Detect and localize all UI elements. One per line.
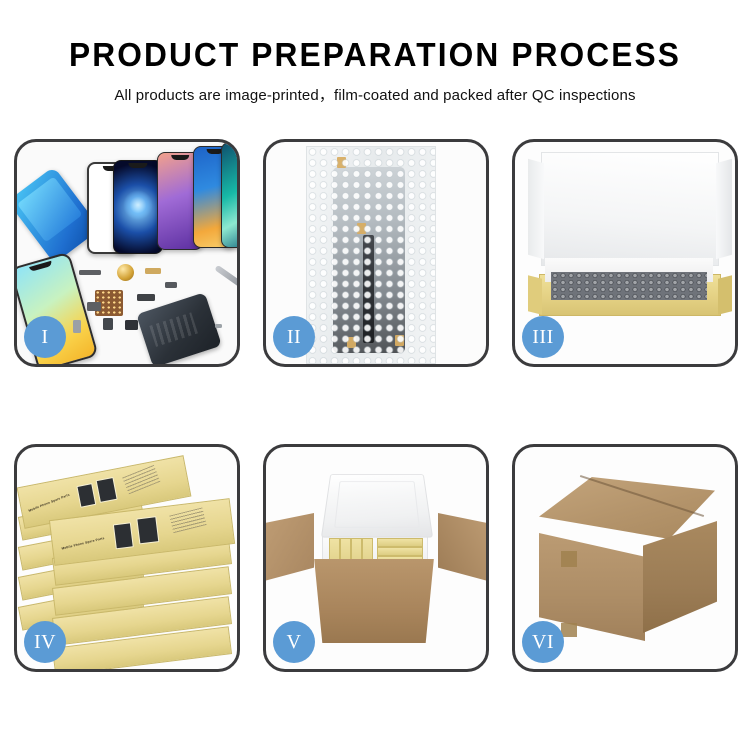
step-panel-1[interactable]: I — [14, 139, 240, 367]
carton-flap-right — [438, 513, 486, 583]
connector-icon — [137, 294, 155, 301]
step-panel-5[interactable]: V — [263, 444, 489, 672]
box-window-front-2 — [136, 516, 159, 544]
header: PRODUCT PREPARATION PROCESS All products… — [0, 0, 750, 105]
phone-back-housing-icon — [136, 292, 222, 364]
camera-module-icon — [125, 320, 138, 330]
phone-screen-teal-icon — [221, 142, 237, 248]
button-flex-icon — [165, 282, 177, 288]
step-panel-6[interactable]: VI — [512, 444, 738, 672]
small-chip-icon — [87, 302, 101, 311]
carton-tab-upper — [561, 551, 577, 567]
box-window-front-1 — [113, 522, 134, 549]
bubble-wrap-bag — [306, 146, 436, 364]
box-lid-foam — [541, 152, 719, 266]
yellow-box-h2 — [377, 547, 423, 556]
carton-side-face — [643, 521, 717, 633]
screw-icon — [215, 324, 222, 328]
step-badge-5: V — [273, 621, 315, 663]
box-label-front: Mobile Phone Spare Parts — [61, 536, 105, 551]
flex-cable-icon — [79, 270, 101, 275]
step-badge-1: I — [24, 316, 66, 358]
box-spec-text-front — [169, 507, 206, 533]
speaker-icon — [103, 318, 113, 330]
grey-bubble-wrap-layer — [551, 272, 707, 300]
process-step-grid: I II — [14, 139, 736, 672]
page-title: PRODUCT PREPARATION PROCESS — [15, 38, 735, 73]
step-panel-4[interactable]: Mobile Phone Spare Parts Mobile Phone Sp… — [14, 444, 240, 672]
step-badge-3: III — [522, 316, 564, 358]
step-panel-2[interactable]: II — [263, 139, 489, 367]
step-badge-4: IV — [24, 621, 66, 663]
box-window-back-1 — [76, 483, 96, 508]
carton-top-face — [539, 477, 715, 539]
box-window-back-2 — [96, 477, 118, 503]
carton-body — [306, 559, 442, 643]
step-badge-6: VI — [522, 621, 564, 663]
carton-tab-lower — [561, 623, 577, 637]
phone-screen-blue-icon — [113, 160, 163, 254]
step-badge-2: II — [273, 316, 315, 358]
product-preparation-infographic: PRODUCT PREPARATION PROCESS All products… — [0, 0, 750, 750]
vibration-motor-icon — [117, 264, 134, 281]
bubble-texture — [307, 147, 435, 363]
screwdriver-icon — [214, 265, 237, 289]
box-label-back: Mobile Phone Spare Parts — [28, 493, 70, 513]
step-panel-3[interactable]: III — [512, 139, 738, 367]
carton-flap-left — [266, 513, 314, 583]
styrofoam-lid — [321, 474, 433, 538]
page-subtitle: All products are image-printed，film-coat… — [0, 84, 750, 105]
gold-contact-icon — [145, 268, 161, 274]
sim-tray-icon — [73, 320, 81, 333]
yellow-box-h1 — [377, 538, 423, 547]
box-spec-text-back — [122, 465, 160, 494]
